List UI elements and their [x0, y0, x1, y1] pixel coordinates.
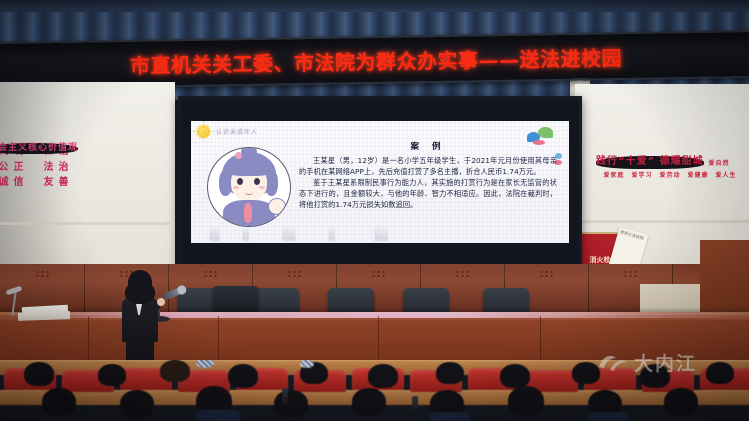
- desk-lamp: [6, 288, 22, 318]
- audience-head: [274, 390, 308, 418]
- bubble-green: [538, 127, 553, 138]
- panel-vent-dots: [623, 270, 637, 278]
- audience-head: [98, 364, 126, 386]
- water-bottle: [282, 388, 288, 404]
- left-slogan-row: 诚信 友善: [0, 177, 84, 190]
- watermark-text: 大内江: [634, 349, 697, 376]
- audience-head: [228, 364, 258, 388]
- slide-header-label: 认识未成年人: [216, 127, 258, 136]
- audience-uniform: [196, 410, 240, 421]
- projection-screen: 认识未成年人: [178, 96, 582, 290]
- desk-seam: [378, 316, 379, 360]
- audience-head: [120, 390, 154, 418]
- presentation-slide: 认识未成年人: [191, 121, 569, 243]
- audience-head: [500, 364, 530, 388]
- panel-vent-dots: [35, 270, 49, 278]
- desk-seam: [218, 316, 219, 360]
- audience-head: [160, 360, 190, 382]
- hair-bow: [300, 360, 314, 368]
- led-banner-text: 市直机关关工委、市法院为群众办实事——送法进校园: [130, 42, 622, 79]
- left-slogan-row: 公正 法治: [0, 162, 84, 175]
- panel-vent-dots: [287, 270, 301, 278]
- avatar-necktie: [244, 203, 252, 223]
- channel-watermark: 大内江: [598, 345, 738, 379]
- slide-paragraph: 鉴于王某星系限制民事行为能力人，其实施的打赏行为是在家长无监管的状态下进行的，且…: [299, 178, 557, 210]
- curtain-rail: [0, 0, 749, 12]
- sun-icon: [197, 125, 210, 138]
- desk-top-surface: [0, 312, 749, 318]
- slide-skyline-decoration: [203, 225, 533, 241]
- screen-bezel-top: [181, 99, 579, 119]
- presenter-hair: [128, 270, 152, 296]
- audience-head: [42, 388, 76, 416]
- avatar-fringe: [228, 160, 270, 176]
- desk-seam: [88, 316, 89, 360]
- avatar-mouth: [245, 190, 253, 195]
- right-wall-slogan: 践行“十爱” 德耀甜城 爱党 爱国 爱内江 爱社会 爱自然 爱家庭 爱学习 爱劳…: [596, 156, 744, 179]
- wall-trim-right: [575, 220, 749, 223]
- avatar-eye-right: [254, 178, 260, 185]
- lamp-arm: [11, 292, 16, 316]
- desk-seam: [540, 316, 541, 360]
- left-slogan-heading: 社会主义核心价值观: [0, 143, 78, 154]
- cartoon-girl-avatar: [207, 147, 291, 227]
- swoosh-logo-icon: [598, 351, 628, 373]
- audience-head: [508, 386, 544, 416]
- panel-vent-dots: [455, 270, 469, 278]
- avatar-blush-left: [233, 186, 239, 189]
- avatar-raised-hand: [268, 198, 286, 215]
- fire-hydrant-label: 消火栓: [590, 256, 611, 264]
- slide-title: 案 例: [299, 141, 557, 154]
- audience-head: [368, 364, 398, 388]
- panel-vent-dots: [371, 270, 385, 278]
- right-slogan-row: 爱家庭 爱学习 爱劳动 爱健康 爱人生: [596, 172, 744, 180]
- auditorium-photo: 市直机关关工委、市法院为群众办实事——送法进校园 社会主义核心价值观 文明 和谐…: [0, 0, 749, 421]
- audience-head: [664, 388, 698, 416]
- right-slogan-heading: 践行“十爱” 德耀甜城: [596, 156, 704, 169]
- audience-head: [352, 388, 386, 416]
- panel-vent-dots: [539, 270, 553, 278]
- left-wall-slogan: 社会主义核心价值观 文明 和谐 公正 法治 诚信 友善: [0, 143, 84, 190]
- avatar-blush-right: [259, 186, 265, 189]
- presenter: [118, 270, 162, 362]
- slide-text-block: 案 例 王某星（男，12岁）是一名小学五年级学生，于2021年元月份使用其母亲的…: [299, 141, 557, 212]
- water-bottle: [412, 396, 418, 412]
- audience-head: [436, 362, 464, 384]
- audience-head: [572, 362, 600, 384]
- audience-head: [24, 362, 54, 386]
- audience-uniform: [588, 412, 628, 421]
- audience-uniform: [430, 412, 470, 421]
- panel-vent-dots: [203, 270, 217, 278]
- stage-back-wall: [0, 264, 749, 312]
- wall-trim-left: [0, 222, 170, 225]
- slide-paragraph: 王某星（男，12岁）是一名小学五年级学生，于2021年元月份使用其母亲的手机在某…: [299, 156, 557, 178]
- avatar-hair-pin: [235, 152, 242, 159]
- avatar-eye-left: [237, 178, 243, 185]
- slide-header: 认识未成年人: [197, 125, 258, 138]
